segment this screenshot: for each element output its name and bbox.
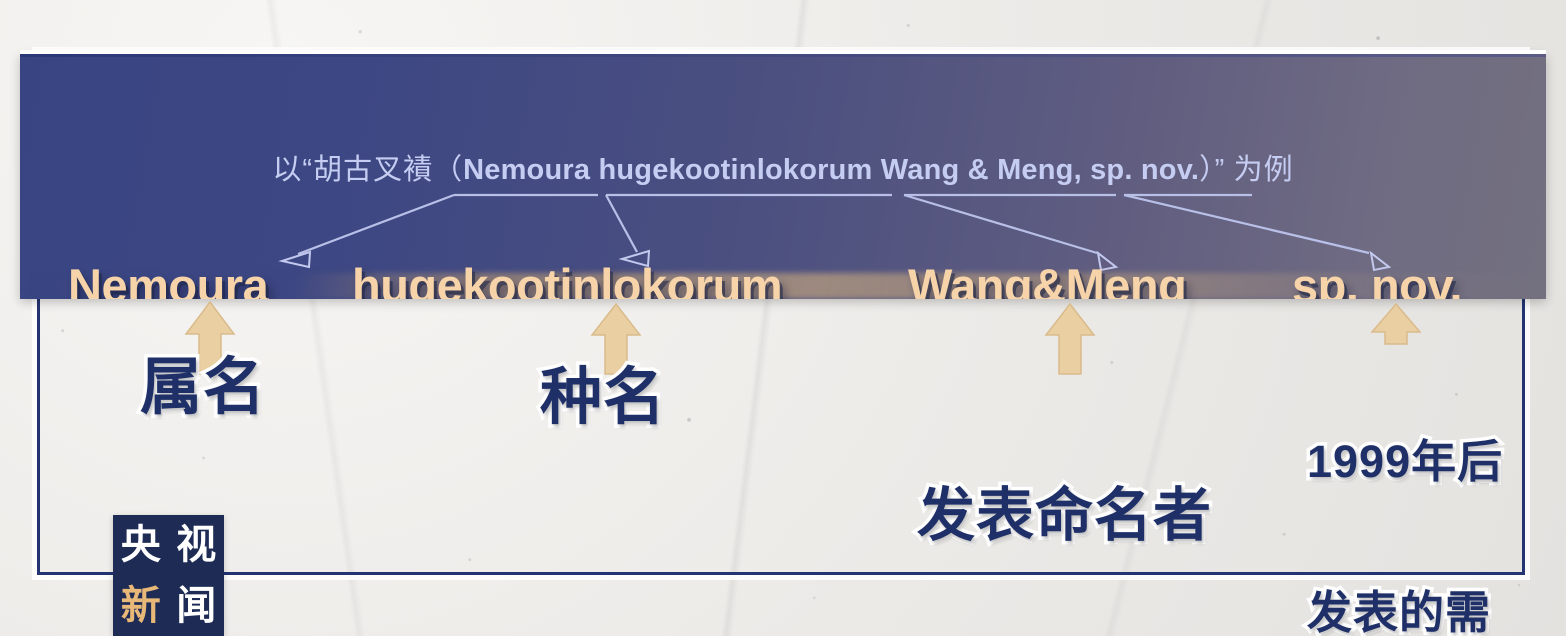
callout-authors-line1: 发表命名者 [917, 486, 1212, 545]
name-part-authors: Wang&Meng [908, 262, 1186, 299]
name-parts-row: Nemoura hugekootinlokorum Wang&Meng sp. … [20, 262, 1546, 299]
logo-char-shi: 视 [176, 525, 216, 565]
leader-line-species [606, 195, 637, 252]
callout-status: 1999年后 发表的需 以此标明 是个新名 [1307, 336, 1503, 636]
up-arrow-authors [1042, 302, 1098, 376]
callout-species: 种名 [540, 366, 666, 429]
logo-char-yang: 央 [121, 525, 161, 565]
callout-genus: 属名 [140, 356, 266, 419]
callout-status-line1: 1999年后 [1307, 437, 1503, 487]
callout-authors: 发表命名者 的姓氏 [917, 368, 1212, 636]
cctv-news-logo: 央 视 新 闻 [113, 515, 224, 636]
logo-char-wen: 闻 [176, 586, 216, 626]
leader-line-authors [904, 195, 1097, 253]
name-part-species: hugekootinlokorum [352, 262, 782, 299]
callout-status-line2: 发表的需 [1307, 588, 1503, 636]
leader-line-status [1124, 195, 1369, 253]
name-part-status: sp. nov. [1292, 262, 1462, 299]
logo-char-xin: 新 [121, 586, 161, 626]
leader-line-genus [298, 195, 454, 254]
name-part-genus: Nemoura [68, 262, 268, 299]
infographic-root: 以“胡古叉襀（Nemoura hugekootinlokorum Wang & … [0, 0, 1566, 636]
title-panel: 以“胡古叉襀（Nemoura hugekootinlokorum Wang & … [20, 54, 1546, 299]
